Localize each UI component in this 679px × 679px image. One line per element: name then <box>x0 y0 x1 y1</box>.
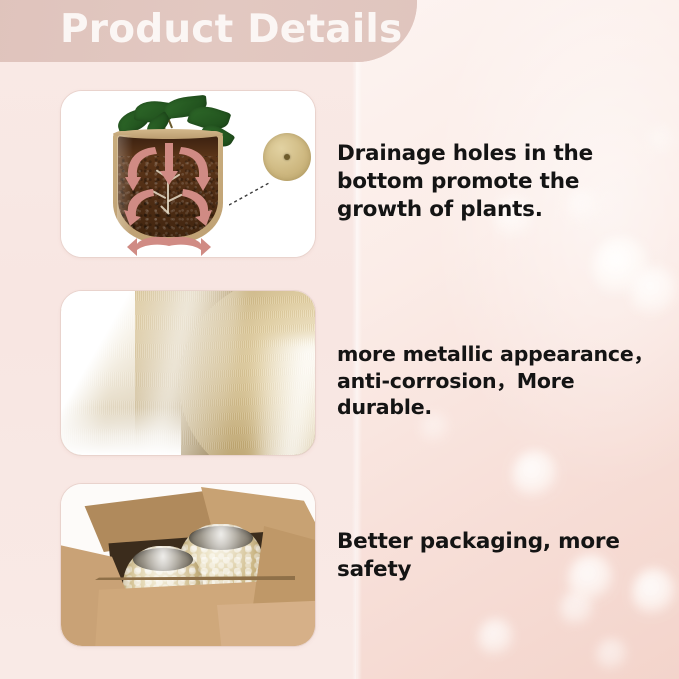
feature-card-packaging <box>60 483 316 647</box>
feature-text-packaging: Better packaging, more safety <box>337 528 657 584</box>
feature-text-metallic: more metallic appearance，anti-corrosion，… <box>337 341 667 421</box>
open-cardboard-box-with-bubble-wrapped-planters <box>61 484 315 646</box>
gold-white-bottom <box>61 407 181 455</box>
page-title: Product Details <box>60 7 402 52</box>
arrow-curve-lower-left-icon <box>121 189 155 227</box>
gold-highlight-right <box>257 339 315 455</box>
arrow-curve-left-icon <box>125 145 159 193</box>
leader-line <box>229 181 269 207</box>
drainage-hole-disc <box>263 133 311 181</box>
arrow-curve-right-icon <box>177 145 211 193</box>
arrow-out-left-icon <box>127 235 169 258</box>
box-flap-front-right <box>217 600 315 646</box>
arrow-curve-lower-right-icon <box>181 189 215 227</box>
drainage-hole <box>284 154 290 160</box>
brushed-gold-surface-closeup <box>61 291 315 455</box>
arrow-out-right-icon <box>169 235 211 258</box>
feature-card-metallic <box>60 290 316 456</box>
feature-text-drainage: Drainage holes in the bottom promote the… <box>337 140 662 224</box>
product-details-infographic: Product Details <box>0 0 679 679</box>
arrow-down-center-icon <box>160 143 178 185</box>
pot-cross-section-drainage-illustration <box>61 91 315 257</box>
feature-card-drainage <box>60 90 316 258</box>
pot-illustration-group <box>105 105 230 255</box>
